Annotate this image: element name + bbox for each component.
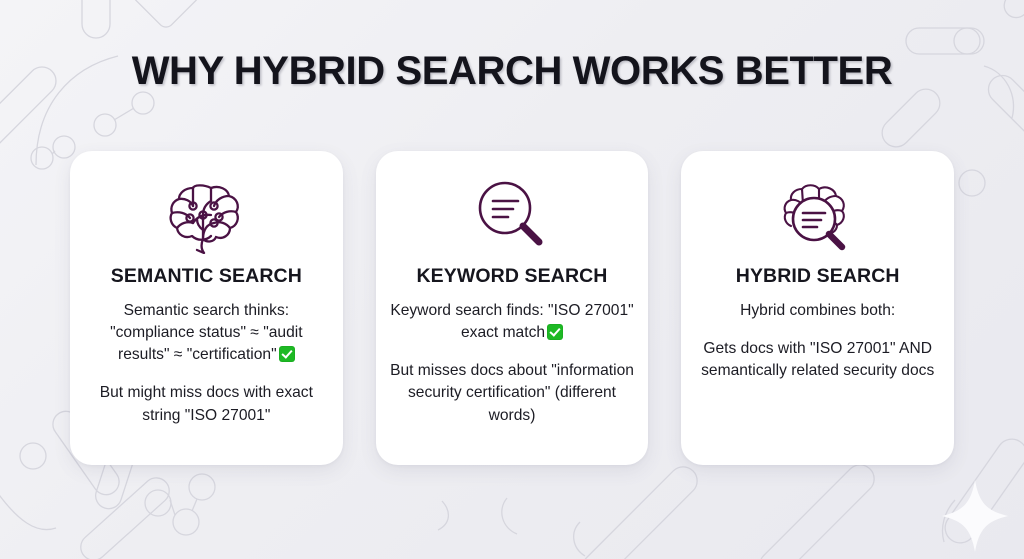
decor-node xyxy=(94,114,116,136)
decor-pill xyxy=(82,0,110,38)
brain-magnifier-icon xyxy=(778,175,858,257)
decor-arc xyxy=(0,482,56,530)
decor-node xyxy=(173,509,199,535)
card-paragraph: Hybrid combines both: xyxy=(740,300,895,322)
card-semantic-search[interactable]: SEMANTIC SEARCH Semantic search thinks: … xyxy=(70,151,343,465)
decor-edge xyxy=(114,108,134,120)
decor-node xyxy=(189,474,215,500)
decor-node xyxy=(31,147,53,169)
page-title: WHY HYBRID SEARCH WORKS BETTER xyxy=(0,49,1024,94)
decor-node xyxy=(20,443,46,469)
magnifier-lines-icon xyxy=(475,175,549,257)
decor-edge xyxy=(52,151,55,154)
decor-arc xyxy=(502,498,517,534)
card-paragraph: Keyword search finds: "ISO 27001" exact … xyxy=(390,300,635,344)
paragraph-text: Keyword search finds: "ISO 27001" exact … xyxy=(390,302,633,341)
decor-node xyxy=(959,170,985,196)
check-icon xyxy=(547,324,563,340)
decor-node xyxy=(145,490,171,516)
decor-pill xyxy=(754,459,880,559)
card-paragraph: But misses docs about "information secur… xyxy=(390,360,635,426)
card-body: Semantic search thinks: "compliance stat… xyxy=(84,300,329,427)
card-body: Hybrid combines both: Gets docs with "IS… xyxy=(695,300,940,382)
decor-node xyxy=(132,92,154,114)
check-icon xyxy=(279,346,295,362)
card-body: Keyword search finds: "ISO 27001" exact … xyxy=(390,300,635,427)
card-paragraph: Gets docs with "ISO 27001" AND semantica… xyxy=(695,338,940,382)
decor-pill xyxy=(577,461,703,559)
card-title: KEYWORD SEARCH xyxy=(417,265,608,288)
decor-pill xyxy=(999,0,1024,22)
sparkle-icon xyxy=(942,480,1008,552)
decor-diamond xyxy=(131,0,202,30)
paragraph-text: Semantic search thinks: "compliance stat… xyxy=(110,302,302,363)
cards-row: SEMANTIC SEARCH Semantic search thinks: … xyxy=(70,151,954,465)
card-title: SEMANTIC SEARCH xyxy=(111,265,302,288)
card-paragraph: But might miss docs with exact string "I… xyxy=(84,382,329,426)
decor-arc xyxy=(574,522,585,556)
decor-edge xyxy=(170,500,175,515)
card-hybrid-search[interactable]: HYBRID SEARCH Hybrid combines both: Gets… xyxy=(681,151,954,465)
card-keyword-search[interactable]: KEYWORD SEARCH Keyword search finds: "IS… xyxy=(376,151,649,465)
card-paragraph: Semantic search thinks: "compliance stat… xyxy=(84,300,329,366)
decor-edge xyxy=(192,499,197,511)
card-title: HYBRID SEARCH xyxy=(736,265,900,288)
brain-icon xyxy=(167,175,245,257)
decor-arc xyxy=(942,500,955,542)
decor-arc xyxy=(438,501,448,530)
decor-pill xyxy=(75,473,174,559)
